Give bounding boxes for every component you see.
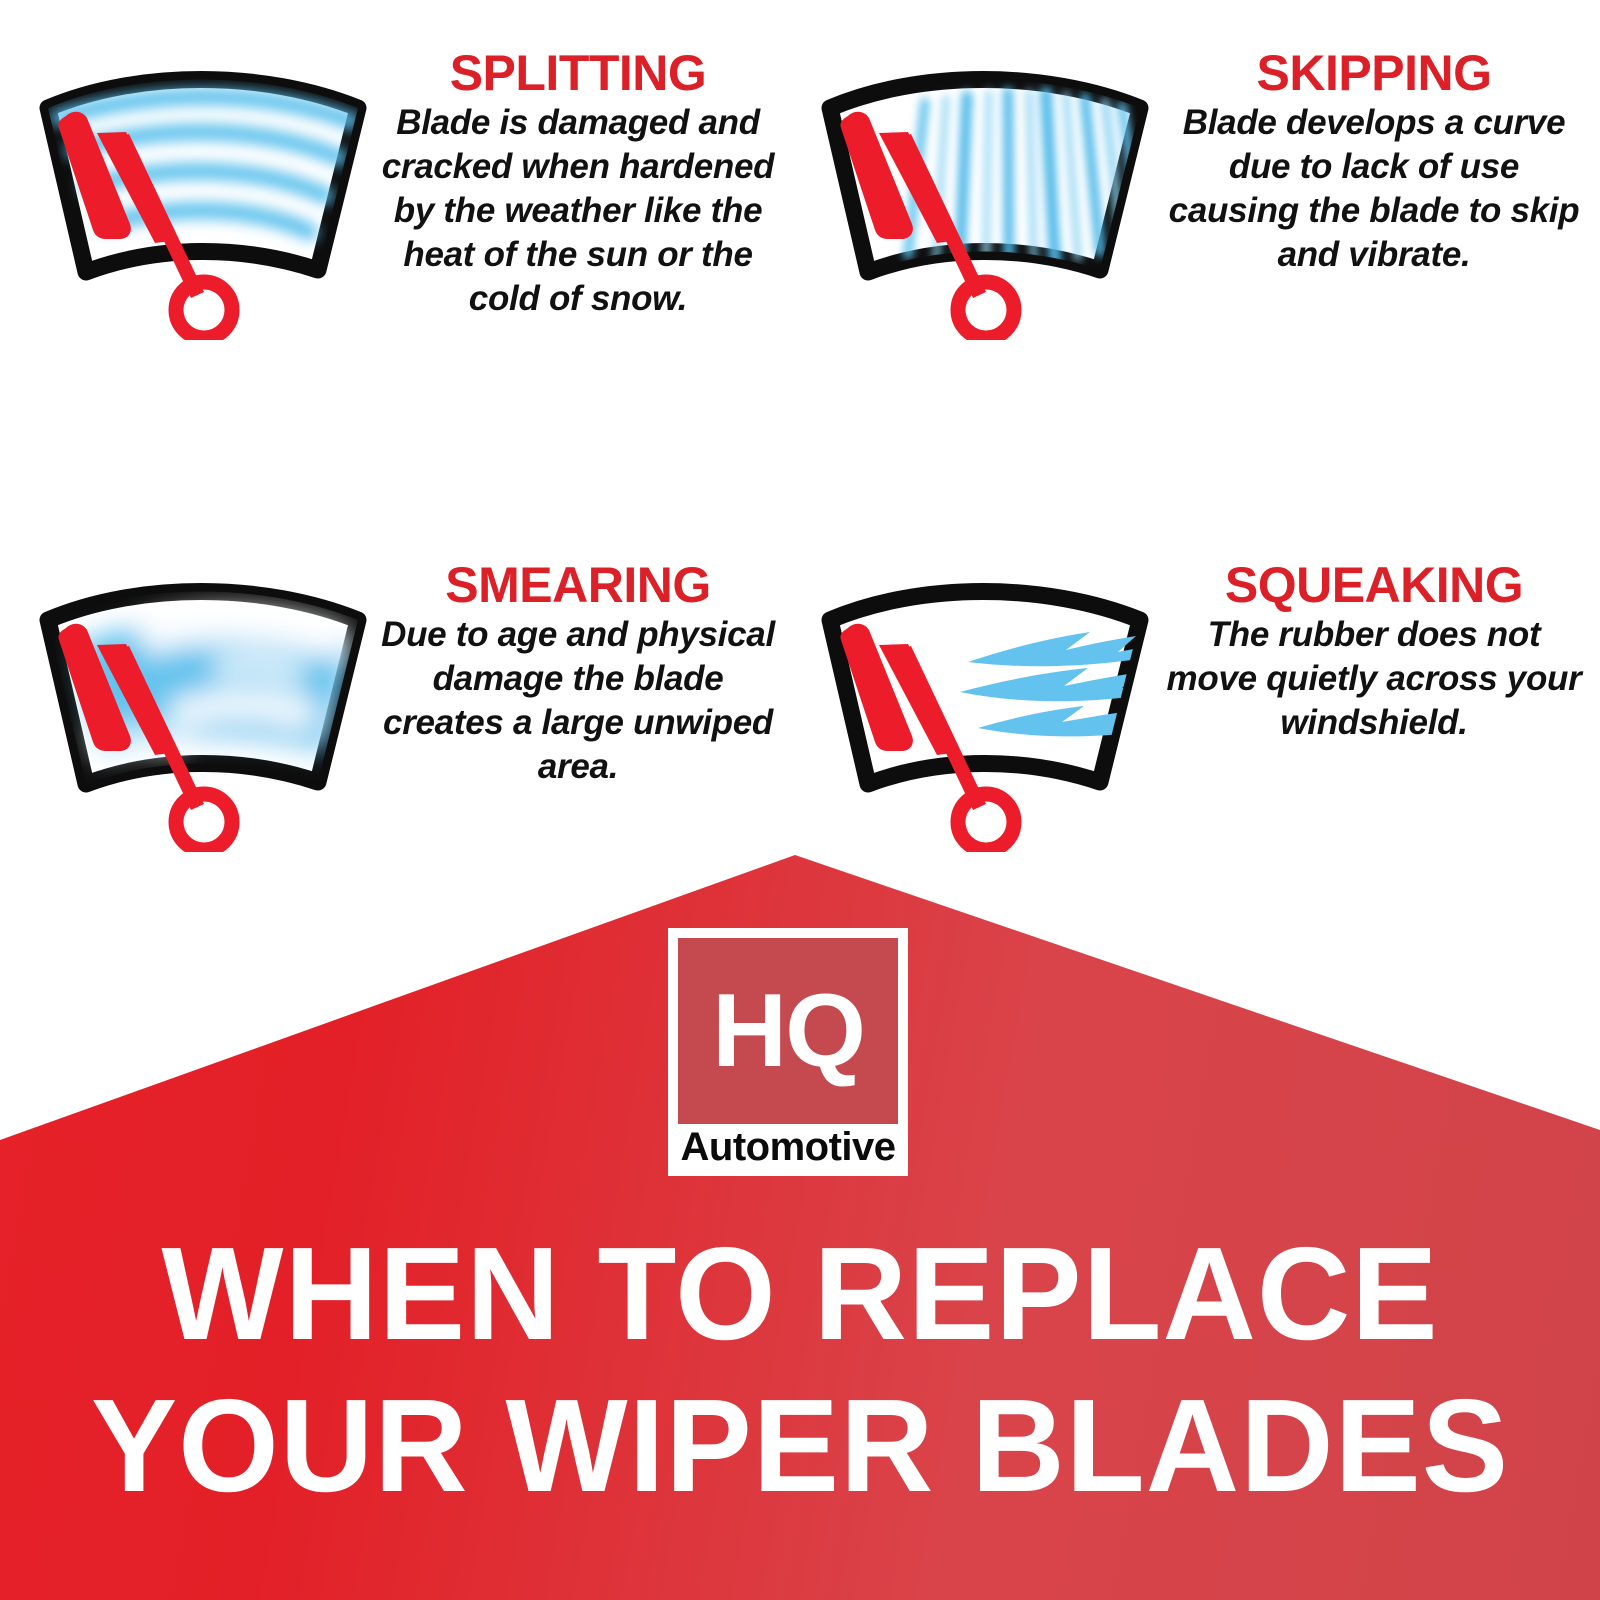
card-description-skipping: Blade develops a curve due to lack of us… (1160, 101, 1588, 277)
card-title-splitting: SPLITTING (378, 48, 778, 99)
headline: WHEN TO REPLACE YOUR WIPER BLADES (0, 1218, 1600, 1522)
headline-line-2: YOUR WIPER BLADES (16, 1370, 1584, 1522)
wiper-squeaking-icon (800, 552, 1160, 852)
card-title-squeaking: SQUEAKING (1160, 560, 1588, 611)
logo-mark-text: HQ (712, 979, 864, 1083)
card-title-skipping: SKIPPING (1160, 48, 1588, 99)
problem-card-splitting: SPLITTING Blade is damaged and cracked w… (18, 40, 778, 340)
problem-card-squeaking: SQUEAKING The rubber does not move quiet… (800, 552, 1588, 852)
card-description-smearing: Due to age and physical damage the blade… (378, 613, 778, 789)
hq-automotive-logo: HQ Automotive (668, 928, 908, 1176)
wiper-smearing-icon (18, 552, 378, 852)
problem-card-smearing: SMEARING Due to age and physical damage … (18, 552, 778, 852)
card-text-skipping: SKIPPING Blade develops a curve due to l… (1160, 40, 1588, 277)
headline-line-1: WHEN TO REPLACE (16, 1218, 1584, 1370)
logo-mark-box: HQ (678, 938, 898, 1124)
card-description-splitting: Blade is damaged and cracked when harden… (378, 101, 778, 321)
card-text-smearing: SMEARING Due to age and physical damage … (378, 552, 778, 789)
card-title-smearing: SMEARING (378, 560, 778, 611)
card-text-squeaking: SQUEAKING The rubber does not move quiet… (1160, 552, 1588, 745)
card-text-splitting: SPLITTING Blade is damaged and cracked w… (378, 40, 778, 321)
card-description-squeaking: The rubber does not move quietly across … (1160, 613, 1588, 745)
logo-subtitle: Automotive (668, 1126, 908, 1168)
wiper-skipping-icon (800, 40, 1160, 340)
infographic-page: SPLITTING Blade is damaged and cracked w… (0, 0, 1600, 1600)
wiper-splitting-icon (18, 40, 378, 340)
problem-card-skipping: SKIPPING Blade develops a curve due to l… (800, 40, 1588, 340)
